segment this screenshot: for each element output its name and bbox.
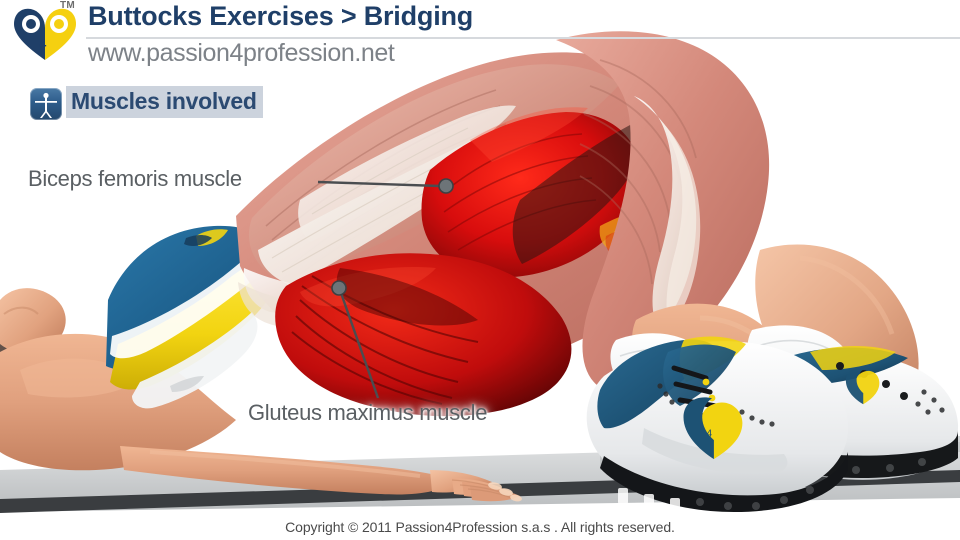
exercise-infographic: 4 4 TM Buttocks Exercises > Bridging www… bbox=[0, 0, 960, 540]
annotation-gluteus-maximus: Gluteus maximus muscle bbox=[248, 400, 487, 426]
copyright-notice: Copyright © 2011 Passion4Profession s.a.… bbox=[0, 519, 960, 535]
p4p-heart-logo: 4 bbox=[6, 4, 84, 62]
muscles-involved-label: Muscles involved bbox=[66, 86, 263, 118]
anatomy-illustration: 4 bbox=[0, 0, 960, 540]
vitruvian-man-icon bbox=[30, 88, 62, 120]
svg-text:4: 4 bbox=[39, 36, 47, 51]
trademark-mark: TM bbox=[60, 0, 75, 11]
page-title: Buttocks Exercises > Bridging bbox=[88, 1, 473, 32]
site-url: www.passion4profession.net bbox=[88, 39, 394, 68]
svg-text:4: 4 bbox=[706, 428, 712, 439]
annotation-biceps-femoris: Biceps femoris muscle bbox=[28, 166, 242, 192]
